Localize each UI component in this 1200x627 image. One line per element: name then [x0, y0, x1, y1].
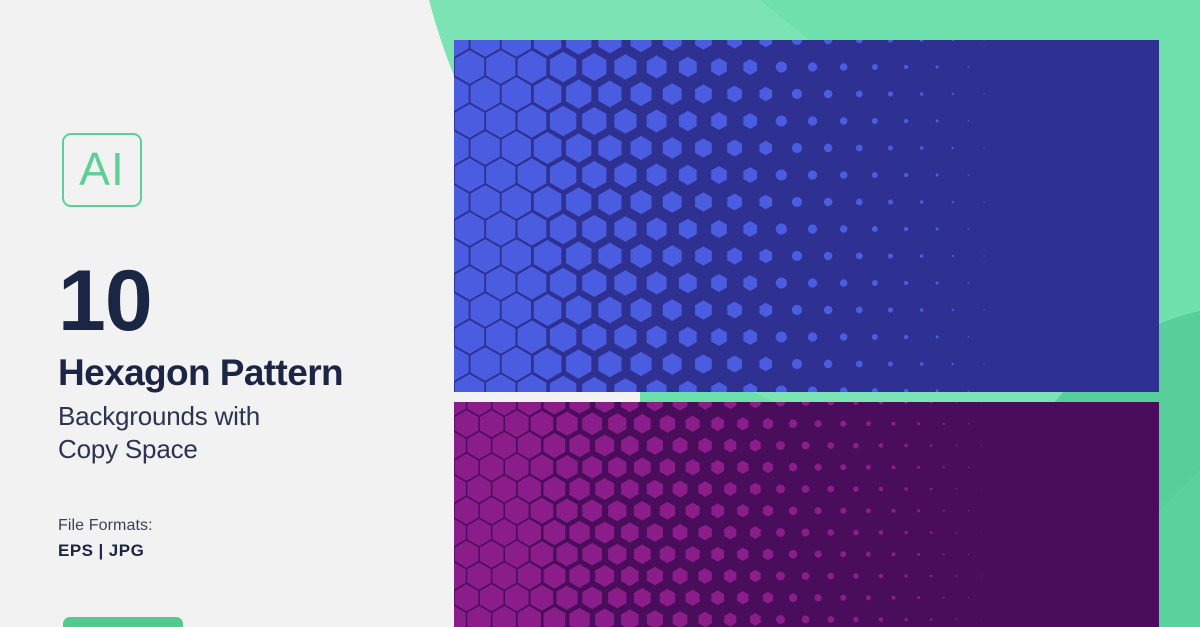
subtitle-line-2: Copy Space: [58, 433, 260, 466]
subtitle-line-1: Backgrounds with: [58, 400, 260, 433]
left-info-column: AI 10 Hexagon Pattern Backgrounds with C…: [0, 0, 454, 627]
preview-panel-blue[interactable]: [454, 40, 1159, 392]
ai-badge-label: AI: [79, 146, 124, 192]
format-jpg: JPG: [109, 541, 145, 560]
page-subtitle: Backgrounds with Copy Space: [58, 400, 260, 467]
pack-count: 10: [58, 258, 152, 344]
format-eps: EPS: [58, 541, 94, 560]
page-title: Hexagon Pattern: [58, 352, 343, 393]
preview-panel-purple[interactable]: [454, 402, 1159, 627]
file-formats-label: File Formats:: [58, 517, 153, 535]
file-formats-value: EPS|JPG: [58, 541, 144, 561]
adobe-illustrator-badge-icon: AI: [62, 133, 142, 207]
green-pill-button[interactable]: [63, 617, 183, 627]
format-separator: |: [94, 541, 109, 560]
